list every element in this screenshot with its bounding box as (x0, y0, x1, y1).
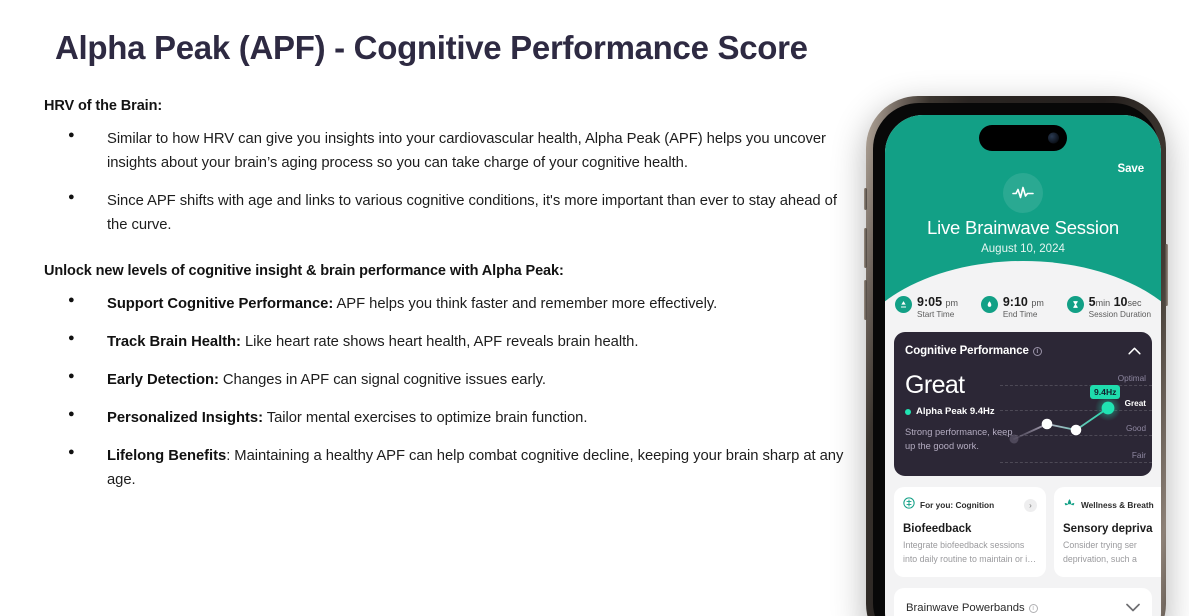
recommendation-cards-row: For you: Cognition › Biofeedback Integra… (894, 487, 1152, 577)
list-item-rest: Tailor mental exercises to optimize brai… (263, 410, 587, 426)
cognitive-performance-card[interactable]: Cognitive Performance i Great (894, 332, 1152, 476)
session-hero: Save Live Brainwave Session August 10, 2… (885, 115, 1161, 315)
card-title: Biofeedback (903, 523, 1037, 535)
phone-power-button (1165, 244, 1168, 306)
cognitive-trend-chart: Optimal Great Good Fair (1000, 367, 1152, 467)
chart-value-bubble: 9.4Hz (1090, 385, 1120, 399)
card-title: Sensory depriva (1063, 523, 1161, 535)
phone-volume-up-button (864, 228, 867, 268)
powerbands-label: Brainwave Powerbands (906, 602, 1025, 614)
list-item: Track Brain Health: Like heart rate show… (44, 331, 854, 355)
bullet-list-hrv: Similar to how HRV can give you insights… (44, 128, 854, 238)
list-item: Lifelong Benefits: Maintaining a healthy… (44, 445, 854, 493)
list-item: Similar to how HRV can give you insights… (44, 128, 854, 176)
pulse-wave-icon (1003, 173, 1043, 213)
stat-value: 5min 10sec (1089, 295, 1151, 309)
list-item: Personalized Insights: Tailor mental exe… (44, 407, 854, 431)
chevron-down-icon[interactable] (1126, 599, 1140, 616)
phone-mute-switch (864, 188, 867, 210)
card-title-text: Cognitive Performance (905, 345, 1029, 357)
card-for-you-cognition[interactable]: For you: Cognition › Biofeedback Integra… (894, 487, 1046, 577)
brainwave-powerbands-row[interactable]: Brainwave Powerbands i (894, 588, 1152, 616)
list-item-lead: Track Brain Health: (107, 334, 241, 350)
session-stats-row: 9:05 pm Start Time 9:10 pm End Time (885, 295, 1161, 319)
stat-end-time: 9:10 pm End Time (981, 295, 1060, 319)
bullet-list-benefits: Support Cognitive Performance: APF helps… (44, 293, 854, 493)
end-time-icon (981, 296, 998, 313)
save-button[interactable]: Save (1118, 163, 1144, 175)
stat-value: 9:05 pm (917, 295, 958, 309)
phone-bezel: Save Live Brainwave Session August 10, 2… (873, 103, 1159, 616)
list-item-lead: Lifelong Benefits (107, 448, 226, 464)
card-description: Integrate biofeedback sessions into dail… (903, 539, 1037, 566)
chevron-right-icon[interactable]: › (1024, 499, 1037, 512)
list-item-lead: Personalized Insights: (107, 410, 263, 426)
trend-line-svg (1000, 367, 1152, 467)
alpha-peak-value: Alpha Peak 9.4Hz (916, 406, 995, 417)
card-title: Cognitive Performance i (905, 345, 1042, 357)
list-item: Since APF shifts with age and links to v… (44, 190, 854, 238)
brain-circle-icon (903, 496, 915, 514)
stat-value: 9:10 pm (1003, 295, 1044, 309)
stat-session-duration: 5min 10sec Session Duration (1067, 295, 1151, 319)
start-time-icon (895, 296, 912, 313)
front-camera-icon (1048, 133, 1059, 144)
list-item-lead: Support Cognitive Performance: (107, 296, 333, 312)
legend-dot-icon (905, 409, 911, 415)
list-item-rest: Like heart rate shows heart health, APF … (241, 334, 638, 350)
card-tag: Wellness & Breath (1081, 500, 1154, 510)
card-description: Consider trying serdeprivation, such a (1063, 539, 1161, 566)
document-content: Alpha Peak (APF) - Cognitive Performance… (44, 0, 854, 507)
info-icon[interactable]: i (1029, 604, 1038, 613)
card-wellness-breath[interactable]: Wellness & Breath Sensory depriva Consid… (1054, 487, 1161, 577)
session-date: August 10, 2024 (885, 243, 1161, 255)
hourglass-icon (1067, 296, 1084, 313)
list-item: Early Detection: Changes in APF can sign… (44, 369, 854, 393)
lotus-icon (1063, 496, 1076, 514)
chevron-up-icon[interactable] (1128, 342, 1141, 360)
phone-screen: Save Live Brainwave Session August 10, 2… (885, 115, 1161, 616)
phone-volume-down-button (864, 280, 867, 320)
stat-label: End Time (1003, 310, 1044, 319)
page-root: Alpha Peak (APF) - Cognitive Performance… (0, 0, 1189, 616)
dynamic-island (979, 125, 1067, 151)
list-item-rest: Changes in APF can signal cognitive issu… (219, 372, 546, 388)
session-title: Live Brainwave Session (885, 217, 1161, 239)
list-item-rest: APF helps you think faster and remember … (333, 296, 717, 312)
phone-mockup: Save Live Brainwave Session August 10, 2… (866, 96, 1189, 616)
stat-label: Start Time (917, 310, 958, 319)
phone-frame: Save Live Brainwave Session August 10, 2… (866, 96, 1166, 616)
list-item: Support Cognitive Performance: APF helps… (44, 293, 854, 317)
list-item-lead: Early Detection: (107, 372, 219, 388)
stat-start-time: 9:05 pm Start Time (895, 295, 974, 319)
section-heading-hrv: HRV of the Brain: (44, 98, 854, 114)
info-icon[interactable]: i (1033, 347, 1042, 356)
section-heading-unlock: Unlock new levels of cognitive insight &… (44, 263, 854, 279)
card-tag: For you: Cognition (920, 500, 994, 510)
stat-label: Session Duration (1089, 310, 1151, 319)
page-title: Alpha Peak (APF) - Cognitive Performance… (55, 28, 854, 68)
